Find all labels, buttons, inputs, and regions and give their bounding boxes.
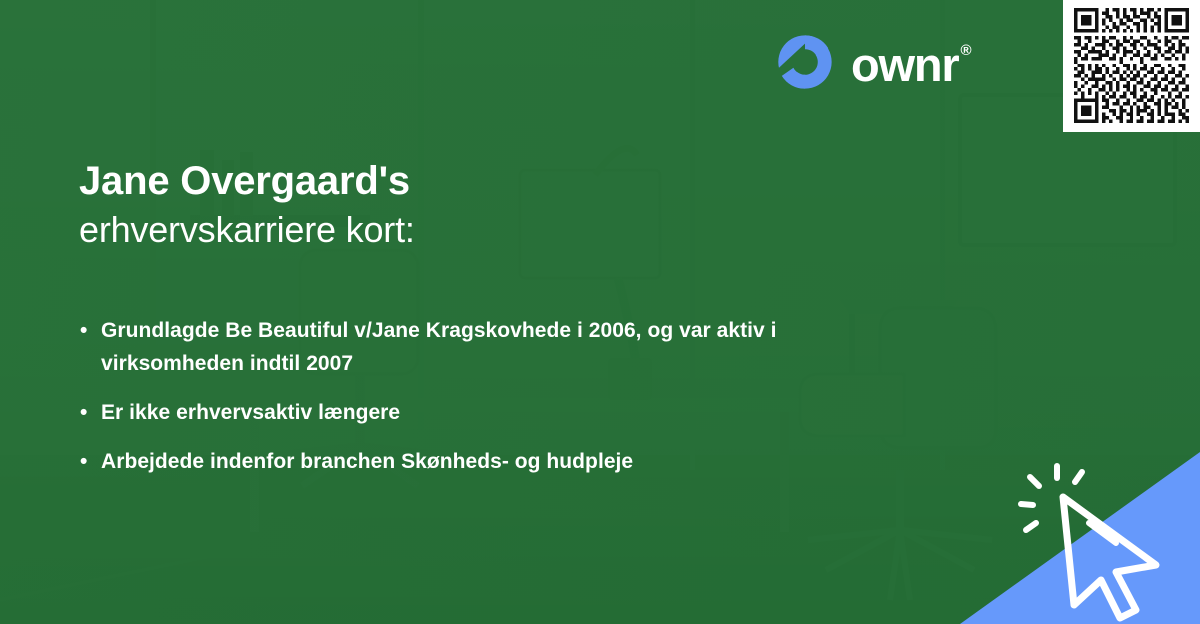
ownr-wordmark: ownr ® <box>851 41 968 88</box>
page-title-name: Jane Overgaard's <box>79 157 415 206</box>
list-item-text: Arbejdede indenfor branchen Skønheds- og… <box>101 445 900 478</box>
list-item: • Arbejdede indenfor branchen Skønheds- … <box>80 445 900 478</box>
qr-code-icon <box>1071 8 1192 123</box>
list-item-text: Grundlagde Be Beautiful v/Jane Kragskovh… <box>101 314 900 380</box>
ownr-wordmark-text: ownr <box>851 41 958 88</box>
page-title-subtitle: erhvervskarriere kort: <box>79 206 415 254</box>
registered-trademark-icon: ® <box>960 43 970 58</box>
career-bullet-list: • Grundlagde Be Beautiful v/Jane Kragsko… <box>80 314 900 478</box>
green-overlay-gradient <box>0 0 1200 624</box>
career-card: ownr ® <box>0 0 1200 624</box>
bullet-dot-icon: • <box>80 314 101 347</box>
page-title: Jane Overgaard's erhvervskarriere kort: <box>79 157 415 254</box>
qr-code-panel[interactable] <box>1063 0 1200 132</box>
ownr-circle-swoosh-icon <box>776 33 834 91</box>
bullet-dot-icon: • <box>80 445 101 478</box>
bullet-dot-icon: • <box>80 396 101 429</box>
list-item: • Er ikke erhvervsaktiv længere <box>80 396 900 429</box>
ownr-logo[interactable]: ownr ® <box>776 33 968 91</box>
list-item: • Grundlagde Be Beautiful v/Jane Kragsko… <box>80 314 900 380</box>
list-item-text: Er ikke erhvervsaktiv længere <box>101 396 900 429</box>
